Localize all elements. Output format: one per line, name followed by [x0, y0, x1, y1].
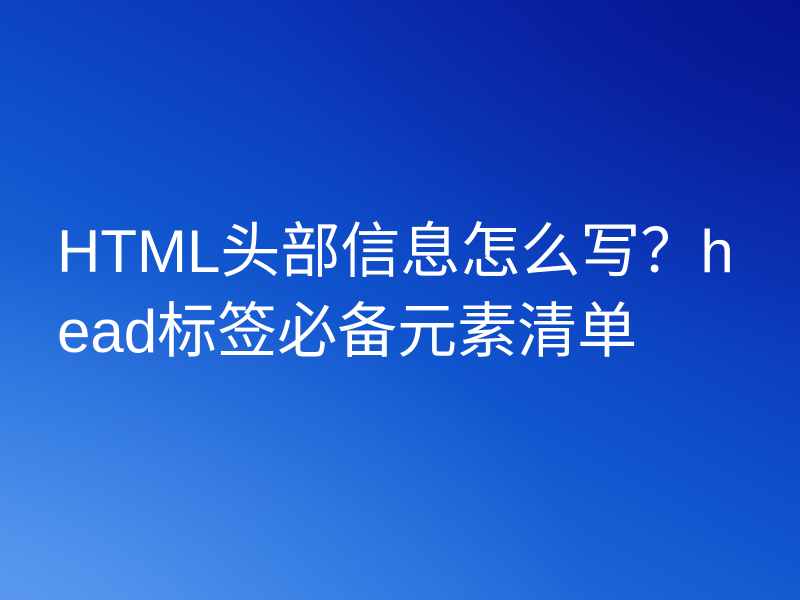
banner-canvas: HTML头部信息怎么写？head标签必备元素清单 — [0, 0, 800, 600]
page-title: HTML头部信息怎么写？head标签必备元素清单 — [57, 212, 749, 372]
title-block: HTML头部信息怎么写？head标签必备元素清单 — [57, 212, 749, 372]
